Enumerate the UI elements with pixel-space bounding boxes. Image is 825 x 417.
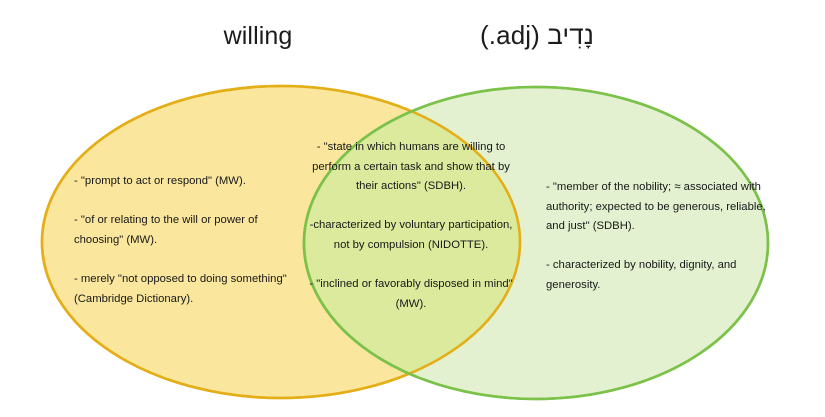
- spacer: [74, 192, 288, 212]
- overlap-item: -characterized by voluntary participatio…: [307, 216, 515, 255]
- right-set-text-block: - "member of the nobility; ≈ associated …: [546, 178, 774, 296]
- spacer: [74, 250, 288, 270]
- spacer: [546, 237, 774, 257]
- left-set-item: - merely "not opposed to doing something…: [74, 270, 288, 309]
- spacer: [307, 197, 515, 217]
- right-set-heading: נָדִיב (adj.): [306, 20, 768, 51]
- venn-diagram: willing נָדִיב (adj.) - "prompt to act o…: [0, 0, 825, 417]
- left-set-text-block: - "prompt to act or respond" (MW). - "of…: [74, 172, 288, 309]
- spacer: [307, 256, 515, 276]
- right-set-item: - characterized by nobility, dignity, an…: [546, 256, 774, 295]
- overlap-text-block: - "state in which humans are willing to …: [307, 138, 515, 314]
- overlap-item: - "inclined or favorably disposed in min…: [307, 275, 515, 314]
- left-set-item: - "prompt to act or respond" (MW).: [74, 172, 288, 192]
- left-set-item: - "of or relating to the will or power o…: [74, 211, 288, 250]
- right-set-item: - "member of the nobility; ≈ associated …: [546, 178, 774, 237]
- overlap-item: - "state in which humans are willing to …: [307, 138, 515, 197]
